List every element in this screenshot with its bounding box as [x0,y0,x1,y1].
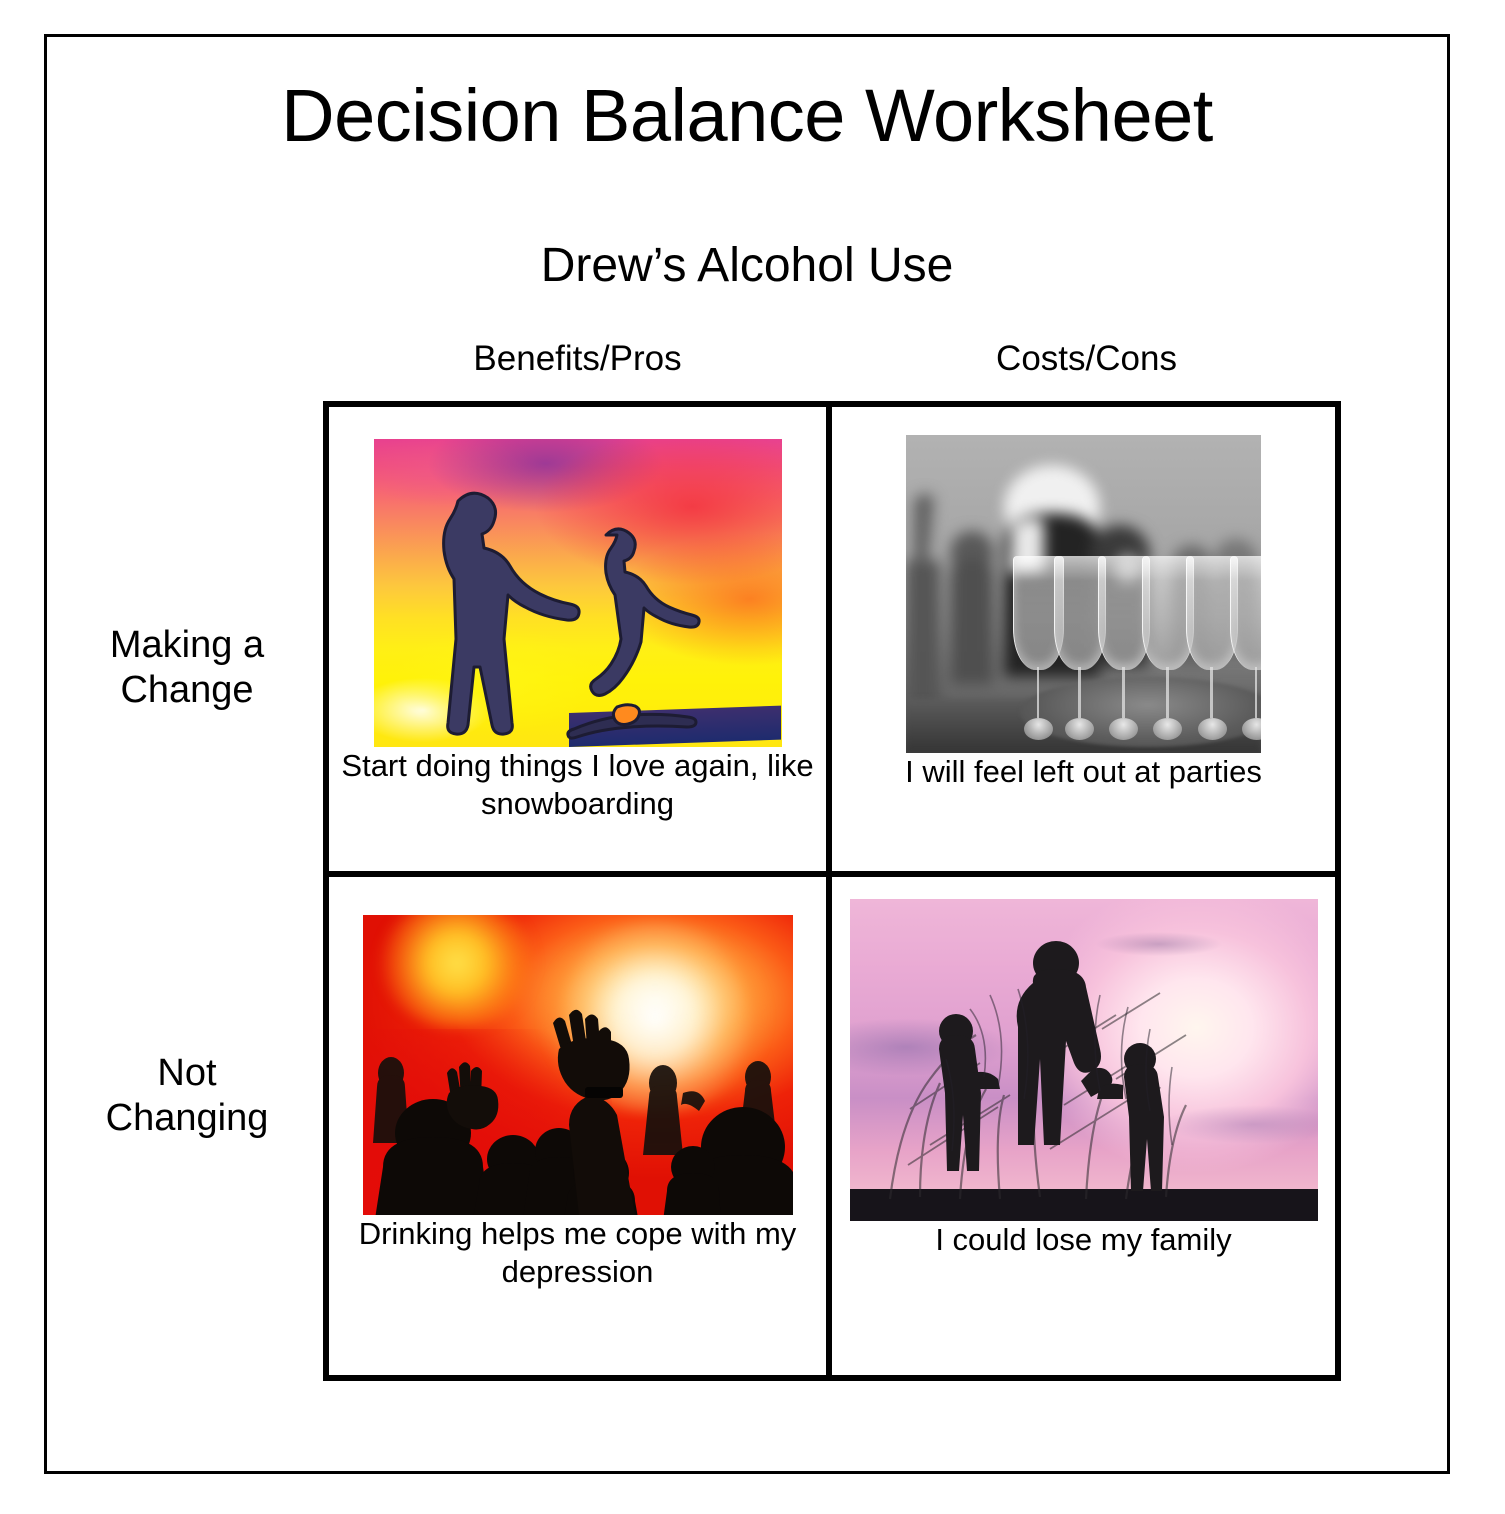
cell-change-benefits[interactable]: Start doing things I love again, like sn… [329,407,832,877]
concert-crowd-image [363,915,793,1215]
cell-caption-nochange-benefits: Drinking helps me cope with my depressio… [329,1215,826,1291]
row-label-making-a-change-line2: Change [57,668,317,713]
cell-change-costs[interactable]: I will feel left out at parties [832,407,1335,877]
row-label-making-a-change: Making a Change [57,623,317,713]
decision-balance-grid: Start doing things I love again, like sn… [323,401,1341,1381]
row-label-not-changing: Not Changing [57,1051,317,1141]
worksheet-page: Decision Balance Worksheet Drew’s Alcoho… [44,34,1450,1474]
row-label-not-changing-line2: Changing [57,1096,317,1141]
row-label-making-a-change-line1: Making a [57,623,317,668]
worksheet-subtitle: Drew’s Alcohol Use [47,242,1447,290]
sunset-snowboarders-image [374,439,782,747]
row-label-not-changing-line1: Not [57,1051,317,1096]
cell-caption-change-benefits: Start doing things I love again, like sn… [329,747,826,823]
column-header-costs: Costs/Cons [832,341,1341,376]
cell-nochange-costs[interactable]: I could lose my family [832,877,1335,1375]
page-title: Decision Balance Worksheet [47,79,1447,153]
cell-nochange-benefits[interactable]: Drinking helps me cope with my depressio… [329,877,832,1375]
column-headers: Benefits/Pros Costs/Cons [323,341,1341,376]
champagne-glasses-image [906,435,1261,753]
column-header-benefits: Benefits/Pros [323,341,832,376]
cell-caption-change-costs: I will feel left out at parties [832,753,1335,791]
cell-caption-nochange-costs: I could lose my family [832,1221,1335,1259]
family-silhouette-image [850,899,1318,1221]
